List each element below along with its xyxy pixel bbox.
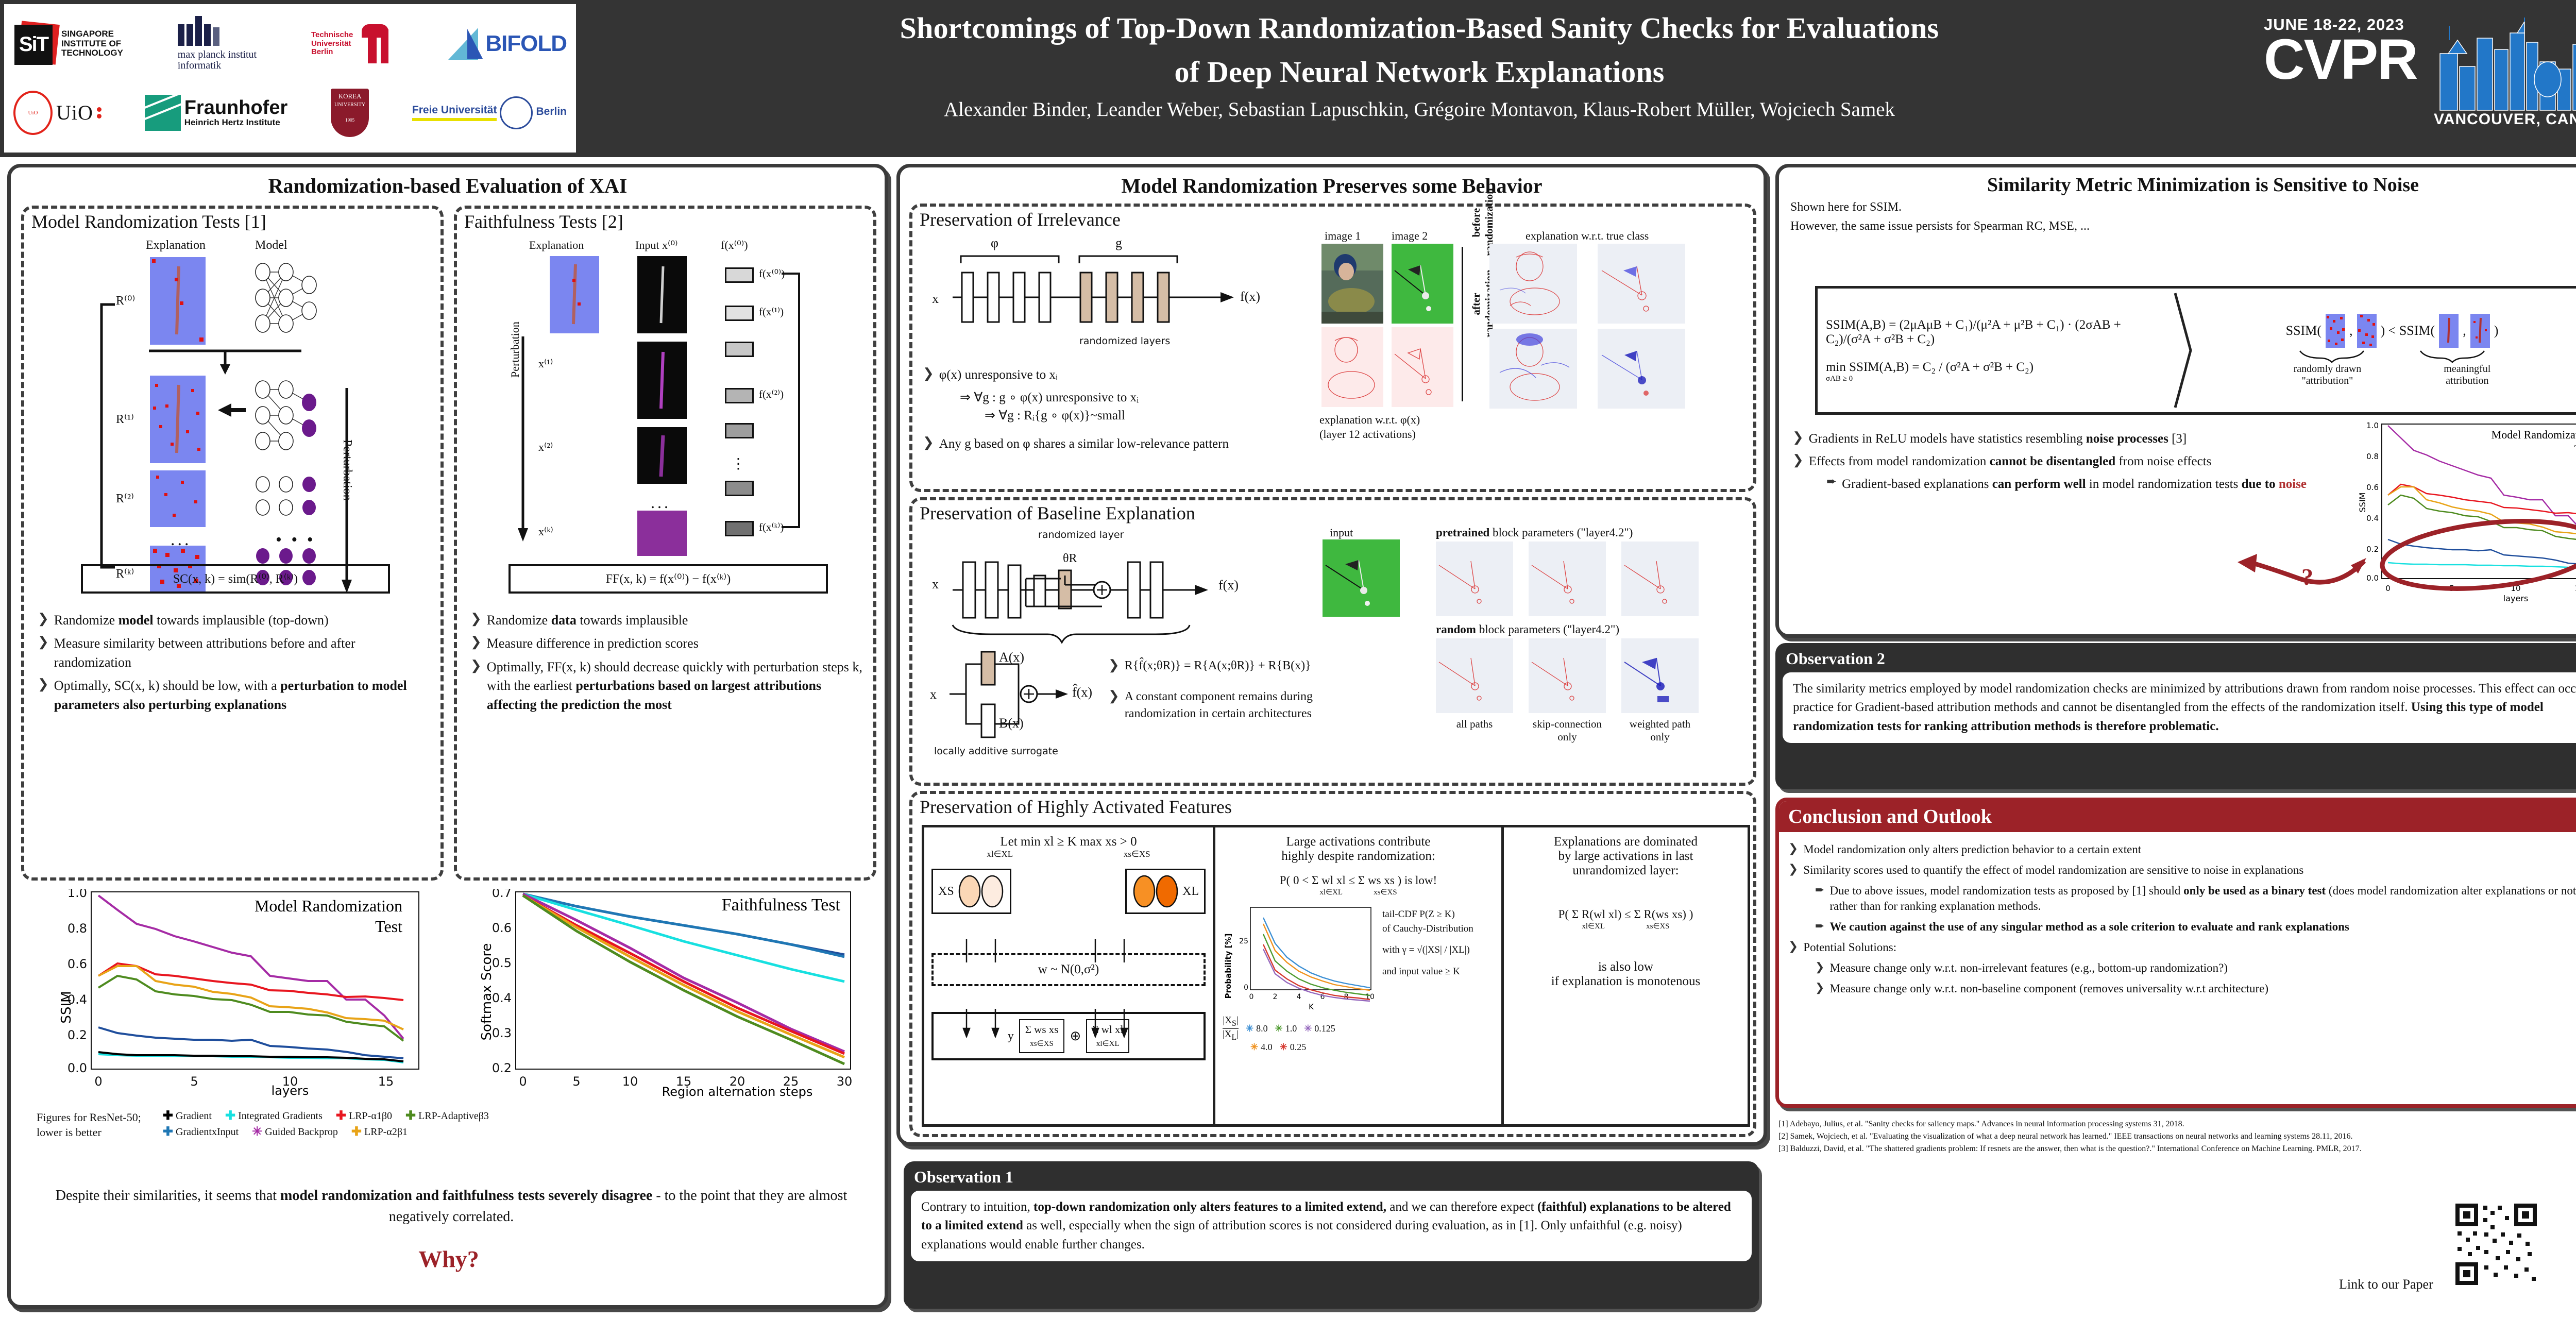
legend-lrp-a2b1: ✚LRP-α2β1: [351, 1126, 408, 1138]
svg-text:Model Randomization: Model Randomization: [2492, 428, 2576, 441]
svg-text:0.6: 0.6: [67, 957, 87, 971]
bullet-arrow-icon: ❯: [1815, 981, 1824, 994]
subpanel-faithfulness-tests: Faithfulness Tests [2] Explanation Input…: [454, 206, 876, 881]
svg-text:layers: layers: [2503, 594, 2528, 603]
svg-text:Probability [%]: Probability [%]: [1224, 934, 1233, 999]
bullet-arrow-right-icon: ➨: [1815, 919, 1824, 932]
ft-bracket: [776, 269, 807, 537]
legend-ratio-1: ✳1.0: [1275, 1023, 1297, 1034]
bullet-arrow-icon: ❯: [1108, 657, 1120, 673]
baseline-image-grid: input pretrained block parameters ("laye…: [1319, 526, 1752, 768]
svg-text:0.4: 0.4: [2366, 514, 2379, 523]
conclusion-heading: Conclusion and Outlook: [1779, 801, 2576, 832]
expl-true-class-label: explanation w.r.t. true class: [1526, 229, 1649, 243]
baseline-brace: [950, 623, 1192, 644]
ha-cdf-legend-2: ✳4.0 ✳0.25: [1250, 1042, 1494, 1053]
similarity-title: Similarity Metric Minimization is Sensit…: [1779, 167, 2576, 199]
legend-marker-icon: ✳: [252, 1128, 262, 1137]
ssim-braces: [2271, 350, 2513, 363]
ft-perturbation-label: Perturbation: [509, 322, 522, 378]
ft-bullet-2: Optimally, FF(x, k) should decrease quic…: [487, 658, 867, 714]
bullet-arrow-icon: ❯: [1108, 688, 1120, 704]
svg-text:5: 5: [572, 1074, 580, 1089]
legend-gradientxinput: ✚GradientxInput: [163, 1126, 239, 1138]
ha-nodes: XS XL: [931, 869, 1206, 914]
logo-fraunhofer: Fraunhofer Heinrich Hertz Institute: [145, 95, 288, 131]
list-item: ➨ Due to above issues, model randomizati…: [1815, 883, 2576, 915]
irrelevance-bullet-2: ⇒ ∀g : Rᵢ{g ∘ φ(x)}~small: [985, 407, 1304, 425]
noise-attr-b: [2357, 314, 2377, 348]
figure-note: Figures for ResNet-50; lower is better: [37, 1110, 141, 1140]
legend-integrated-gradients: ✚Integrated Gradients: [225, 1110, 323, 1122]
observation-2-body: The similarity metrics employed by model…: [1783, 672, 2576, 743]
ssim-formula-box: SSIM(A,B) = (2μAμB + C₁)/(μ²A + μ²B + C₁…: [1815, 286, 2576, 415]
ha-c3-l2: by large activations in last: [1511, 849, 1740, 864]
list-item: ❯ Optimally, FF(x, k) should decrease qu…: [470, 658, 867, 714]
ft-bar-1: [725, 306, 754, 321]
irrelevance-network-diagram: φ g x f(x) ran: [925, 235, 1301, 354]
ssim-equation: SSIM(A,B) = (2μAμB + C₁)/(μ²A + μ²B + C₁…: [1826, 318, 2165, 347]
observation-1-heading: Observation 1: [911, 1166, 1752, 1191]
why-question: Why?: [11, 1245, 887, 1273]
left-legend-block: Figures for ResNet-50; lower is better ✚…: [37, 1110, 866, 1140]
baseline-input-label: input: [1330, 526, 1353, 539]
g-label: g: [1115, 235, 1122, 251]
ft-bar-4: [725, 423, 754, 438]
ssim-min-equation: min SSIM(A,B) = C₂ / (σ²A + σ²B + C₂) σA…: [1826, 360, 2165, 383]
legend-gradient: ✚Gradient: [163, 1110, 212, 1122]
bifold-label: BIFOLD: [485, 31, 567, 57]
ft-chart-svg: 0.70.60.5 0.40.30.2 051015 202530 Softma…: [464, 889, 866, 1105]
uio-seal-icon: UiO: [13, 91, 53, 135]
ha-col-3: Explanations are dominated by large acti…: [1501, 827, 1748, 1124]
phi-label: φ: [991, 235, 998, 251]
ft-input-1: [637, 342, 687, 419]
irrelevance-brackets: [956, 253, 1285, 265]
ha-c2-prob: P( 0 < Σ wl xl ≤ Σ ws xs ) is low!: [1223, 874, 1494, 887]
bullet-arrow-icon: ❯: [1788, 842, 1798, 855]
subpanel-preservation-baseline: Preservation of Baseline Explanation ran…: [909, 497, 1756, 786]
bullet-arrow-icon: ❯: [470, 611, 482, 627]
baseline-bullet: A constant component remains during rand…: [1125, 688, 1314, 723]
svg-text:4: 4: [1297, 993, 1301, 1001]
legend-marker-icon: ✚: [163, 1112, 173, 1121]
mrt-bullet-0: Randomize model towards implausible (top…: [54, 611, 329, 630]
bullet-arrow-icon: ❯: [923, 435, 934, 450]
ha-cdf-block: Probability [%] 250 024 6810 K: [1223, 904, 1494, 1012]
ha-let: Let min xl ≥ K max xs > 0: [931, 835, 1206, 849]
ssim-divider: [2173, 291, 2194, 410]
svg-text:5: 5: [190, 1074, 198, 1089]
fhat-label: f̂(x): [1072, 685, 1092, 700]
poster-title-line2: of Deep Neural Network Explanations: [582, 47, 2257, 91]
reference-3: [3] Balduzzi, David, et al. "The shatter…: [1778, 1143, 2422, 1155]
similarity-line1: Shown here for SSIM.: [1779, 199, 2576, 215]
mrt-label-r0: R⁽⁰⁾: [116, 293, 135, 308]
qr-caption: Link to our Paper: [2339, 1277, 2433, 1292]
ssim-comparison: SSIM( , ) < SSIM( ,: [2194, 314, 2576, 387]
legend-marker-icon: ✳: [1304, 1023, 1312, 1034]
ha-col-2: Large activations contribute highly desp…: [1213, 827, 1501, 1124]
legend-marker-icon: ✚: [351, 1128, 362, 1137]
references-block: [1] Adebayo, Julius, et al. "Sanity chec…: [1778, 1118, 2422, 1155]
right-bullet-1: Effects from model randomization cannot …: [1809, 452, 2212, 470]
subpanel-highly-activated: Preservation of Highly Activated Feature…: [909, 791, 1756, 1137]
svg-text:0: 0: [2385, 584, 2391, 593]
ft-label-x1: x⁽¹⁾: [538, 357, 553, 370]
svg-text:0.6: 0.6: [492, 921, 512, 935]
mpi-icon: [178, 16, 219, 46]
bullet-arrow-icon: ❯: [1788, 863, 1798, 876]
fu-berlin-suffix: Berlin: [536, 106, 567, 120]
list-item: ❯ Any g based on φ shares a similar low-…: [923, 435, 1304, 453]
conclusion-item-2: Due to above issues, model randomization…: [1829, 883, 2576, 915]
mrt-network-0: [250, 259, 327, 342]
tu-berlin-icon: [357, 24, 394, 63]
ha-c2-l2: highly despite randomization:: [1223, 849, 1494, 864]
baseline-network-diagram: randomized layer x θR f: [925, 529, 1296, 632]
svg-text:0.2: 0.2: [67, 1028, 87, 1042]
logo-mpi: max planck institutinformatik: [178, 16, 257, 71]
ft-bar-0: [725, 267, 754, 283]
ft-input-2: [637, 427, 687, 484]
chart-model-randomization-test-small: 1.00.80.6 0.40.20.0 051015 SSIM layers M…: [2351, 420, 2576, 611]
svg-text:SSIM: SSIM: [59, 991, 74, 1023]
svg-text:0.5: 0.5: [492, 956, 512, 970]
poster-title-line1: Shortcomings of Top-Down Randomization-B…: [582, 3, 2257, 47]
meaningful-attr-a: [2439, 314, 2459, 348]
subpanel-preservation-irrelevance: Preservation of Irrelevance φ g x: [909, 204, 1756, 492]
legend-ratio-0125: ✳0.125: [1304, 1023, 1335, 1034]
svg-text:0: 0: [1249, 993, 1254, 1001]
bullet-arrow-icon: ❯: [1792, 430, 1804, 445]
list-item: ❯ Measure change only w.r.t. non-irrelev…: [1815, 960, 2576, 976]
surrogate-caption: locally additive surrogate: [934, 746, 1058, 757]
irrelevance-output-fx: f(x): [1240, 289, 1260, 305]
mrt-col-model: Model: [255, 239, 287, 252]
legend-ratio-4: ✳4.0: [1250, 1042, 1273, 1053]
observation-2: Observation 2 The similarity metrics emp…: [1775, 643, 2576, 789]
random-caption: random block parameters ("layer4.2"): [1436, 623, 1619, 636]
list-item: ❯ Measure change only w.r.t. non-baselin…: [1815, 981, 2576, 997]
svg-text:25: 25: [1239, 937, 1248, 945]
panel-randomization-evaluation: Randomization-based Evaluation of XAI Mo…: [7, 164, 888, 1309]
mrt-sc-bracket: [94, 299, 115, 578]
legend-ratio-025: ✳0.25: [1280, 1042, 1307, 1053]
fraunhofer-label: Fraunhofer: [184, 98, 288, 117]
svg-text:0.8: 0.8: [2366, 452, 2379, 461]
bx-label: B(x): [999, 716, 1024, 731]
observation-1-body: Contrary to intuition, top-down randomiz…: [911, 1191, 1752, 1261]
fraunhofer-icon: [145, 95, 181, 131]
panel-model-randomization-preserves: Model Randomization Preserves some Behav…: [896, 164, 1767, 1146]
svg-text:15: 15: [378, 1074, 394, 1089]
right-bullet-2: Gradient-based explanations can perform …: [1842, 475, 2307, 493]
list-item: ❯ Optimally, SC(x, k) should be low, wit…: [38, 677, 432, 714]
ft-ellipsis: ...: [651, 493, 671, 512]
col-all-paths: all paths: [1436, 718, 1513, 743]
ft-col-input: Input x⁽⁰⁾: [635, 239, 678, 252]
logo-tu-berlin: TechnischeUniversitätBerlin: [311, 24, 394, 63]
ft-ellipsis-2: ⋮: [731, 455, 748, 472]
svg-text:10: 10: [622, 1074, 638, 1089]
mrt-bullets: ❯ Randomize model towards implausible (t…: [38, 606, 432, 719]
logo-sit: SiT SINGAPOREINSTITUTE OFTECHNOLOGY: [13, 22, 123, 66]
list-item: ❯ φ(x) unresponsive to xᵢ: [923, 366, 1304, 384]
list-item: ❯ Measure similarity between attribution…: [38, 634, 432, 672]
svg-text:0: 0: [94, 1074, 102, 1089]
institution-logos: SiT SINGAPOREINSTITUTE OFTECHNOLOGY max …: [4, 4, 576, 153]
list-item: ❯ Potential Solutions:: [1788, 940, 2576, 956]
ft-diagram: Explanation Input x⁽⁰⁾ f(x⁽⁰⁾) x⁽¹⁾: [467, 239, 869, 563]
ha-c3-prob: P( Σ R(wl xl) ≤ Σ R(ws xs) ): [1511, 908, 1740, 921]
svg-text:0.6: 0.6: [2366, 483, 2379, 492]
poster-header: SiT SINGAPOREINSTITUTE OFTECHNOLOGY max …: [0, 0, 2576, 157]
logo-uio: UiO UiO: [13, 91, 101, 135]
svg-text:Model Randomization: Model Randomization: [255, 897, 402, 915]
cvpr-city: VANCOUVER, CANADA: [2434, 111, 2576, 128]
noise-attr-a: [2326, 314, 2345, 348]
img1-label: image 1: [1325, 229, 1361, 243]
ha-c2-l1: Large activations contribute: [1223, 835, 1494, 849]
svg-text:1.0: 1.0: [67, 889, 87, 900]
irrelevance-input-x: x: [932, 291, 939, 307]
mrt-label-r1: R⁽¹⁾: [116, 412, 134, 427]
bullet-arrow-icon: ❯: [1815, 960, 1824, 973]
middle-panel-title: Model Randomization Preserves some Behav…: [900, 167, 1764, 201]
baseline-title: Preservation of Baseline Explanation: [912, 500, 1753, 525]
svg-text:2: 2: [1273, 993, 1278, 1001]
mrt-label-r2: R⁽²⁾: [116, 491, 134, 506]
svg-text:0: 0: [519, 1074, 527, 1089]
sit-label: SINGAPOREINSTITUTE OFTECHNOLOGY: [61, 29, 123, 58]
figure-note-line1: Figures for ResNet-50;: [37, 1110, 141, 1125]
svg-text:0.3: 0.3: [492, 1026, 512, 1040]
mrt-col-explanation: Explanation: [146, 239, 206, 252]
ft-bar-3: [725, 388, 754, 403]
noise-pointer-arrow: [2217, 529, 2371, 596]
panel-similarity-metric: Similarity Metric Minimization is Sensit…: [1775, 164, 2576, 638]
list-item: ❯ Model randomization only alters predic…: [1788, 842, 2576, 858]
randomized-layer-label: randomized layer: [1038, 529, 1124, 540]
poster-root: SiT SINGAPOREINSTITUTE OFTECHNOLOGY max …: [0, 0, 2576, 1319]
ha-col-1: Let min xl ≥ K max xs > 0 xl∈XL xs∈XS XS: [924, 827, 1213, 1124]
ha-xs-group: XS: [931, 869, 1011, 914]
uio-dots-icon: [97, 107, 101, 119]
poster-authors: Alexander Binder, Leander Weber, Sebasti…: [582, 98, 2257, 121]
ft-formula: FF(x, k) = f(x⁽⁰⁾) − f(x⁽ᵏ⁾): [509, 564, 828, 594]
ft-bar-5: [725, 481, 754, 496]
svg-text:0.7: 0.7: [492, 889, 512, 900]
ha-xl-group: XL: [1125, 869, 1206, 914]
legend-marker-icon: ✚: [163, 1128, 173, 1137]
mrt-title: Model Randomization Tests [1]: [24, 209, 440, 233]
pretrained-heatmaps: [1436, 542, 1745, 618]
subpanel-model-randomization-tests: Model Randomization Tests [1] Explanatio…: [21, 206, 444, 881]
ha-xl-ellipses: [1132, 874, 1179, 908]
irrelevance-image-grid: image 1 image 2 explanation w.r.t. true …: [1319, 229, 1752, 471]
logo-bifold: BIFOLD: [448, 28, 567, 60]
list-item: ❯ Gradients in ReLU models have statisti…: [1792, 430, 2338, 448]
ha-c3-l3: unrandomized layer:: [1511, 864, 1740, 878]
list-item: ❯ Effects from model randomization canno…: [1792, 452, 2338, 470]
irrelevance-randomized-layers-label: randomized layers: [1079, 335, 1170, 347]
mrt-expl-1: [150, 376, 206, 463]
baseline-input-x: x: [932, 577, 939, 592]
left-panel-title: Randomization-based Evaluation of XAI: [11, 167, 885, 201]
ha-lines-down-2: [948, 1009, 1185, 1038]
question-mark: ?: [2301, 563, 2313, 590]
list-item: ➨ We caution against the use of any sing…: [1815, 919, 2576, 935]
list-item: ❯ R{f̂(x;θR)} = R{A(x;θR)} + R{B(x)}: [1108, 657, 1314, 675]
ft-col-explanation: Explanation: [529, 239, 584, 252]
svg-text:0.2: 0.2: [492, 1061, 512, 1075]
irrelevance-layers: [947, 265, 1287, 332]
svg-text:6: 6: [1320, 993, 1325, 1001]
irrelevance-caption: explanation w.r.t. φ(x) (layer 12 activa…: [1319, 413, 1420, 441]
cvpr-logo: JUNE 18-22, 2023 CVPR VANCOUVER, CANADA: [2264, 15, 2576, 139]
mrt-expl-2: [150, 470, 206, 527]
pretrained-caption: pretrained block parameters ("layer4.2"): [1436, 526, 1633, 539]
legend-marker-icon: ✚: [405, 1112, 416, 1121]
ft-bar-6: [725, 521, 754, 536]
title-block: Shortcomings of Top-Down Randomization-B…: [582, 3, 2257, 121]
qr-code-icon[interactable]: [2452, 1200, 2540, 1288]
logo-fu-berlin: Freie Universität Berlin: [412, 96, 567, 129]
random-heatmaps: [1436, 638, 1745, 715]
chart-tail-cdf-cauchy: Probability [%] 250 024 6810 K: [1223, 904, 1377, 1012]
ssim-compare-row: SSIM( , ) < SSIM( ,: [2286, 314, 2499, 348]
legend-lrp-a1b0: ✚LRP-α1β0: [336, 1110, 392, 1122]
list-item: ❯ A constant component remains during ra…: [1108, 688, 1314, 723]
ha-cdf-notes: tail-CDF P(Z ≥ K) of Cauchy-Distribution…: [1382, 904, 1473, 1012]
chart-faithfulness-test: 0.70.60.5 0.40.30.2 051015 202530 Softma…: [464, 889, 866, 1105]
ft-col-fx: f(x⁽⁰⁾): [721, 239, 748, 252]
list-item: ❯ Randomize model towards implausible (t…: [38, 611, 432, 630]
list-item: ❯ Measure difference in prediction score…: [470, 634, 867, 653]
conclusion-body: ❯ Model randomization only alters predic…: [1779, 832, 2576, 1008]
mrt-network-2: [250, 471, 337, 528]
baseline-eq: R{f̂(x;θR)} = R{A(x;θR)} + R{B(x)}: [1125, 657, 1311, 675]
irrelevance-title: Preservation of Irrelevance: [912, 207, 1753, 231]
mrt-expl-0: [150, 257, 206, 345]
fu-berlin-seal-icon: [500, 96, 533, 129]
bullet-arrow-icon: ❯: [38, 677, 49, 692]
ft-bullets: ❯ Randomize data towards implausible ❯ M…: [470, 606, 867, 719]
bullet-arrow-icon: ❯: [1792, 452, 1804, 468]
svg-text:10: 10: [1365, 993, 1375, 1001]
ft-input-k: [637, 511, 687, 556]
bullet-arrow-right-icon: ➨: [1826, 475, 1837, 489]
legend-marker-icon: ✚: [225, 1112, 235, 1121]
svg-text:Faithfulness Test: Faithfulness Test: [722, 895, 841, 915]
reference-1: [1] Adebayo, Julius, et al. "Sanity chec…: [1778, 1118, 2422, 1130]
ax-label: A(x): [999, 650, 1024, 665]
legend-marker-icon: ✚: [336, 1112, 346, 1121]
mrt-arrow-left-1: [216, 402, 247, 418]
col-skip-connection: skip-connectiononly: [1529, 718, 1606, 743]
mrt-network-1: [250, 377, 337, 459]
ha-cdf-legend: with γ = √(|XS| / |XL|) |XS||XL| ✳8.0 ✳1…: [1223, 1016, 1494, 1042]
mrt-perturbation-label: Perturbation: [340, 439, 354, 501]
bullet-arrow-icon: ❯: [38, 611, 49, 627]
bullet-arrow-icon: ❯: [470, 634, 482, 650]
legend-marker-icon: ✳: [1280, 1042, 1287, 1053]
observation-2-heading: Observation 2: [1783, 648, 2576, 672]
ha-subs: xl∈XL xs∈XS: [931, 849, 1206, 859]
ha-c3-l1: Explanations are dominated: [1511, 835, 1740, 849]
legend-lrp-adaptive-b3: ✚LRP-Adaptiveβ3: [405, 1110, 489, 1122]
uio-label: UiO: [56, 100, 93, 125]
ft-label-x2: x⁽²⁾: [538, 441, 553, 454]
chart-model-randomization-test: 1.00.80.6 0.40.20.0 051015 SSIM layers M…: [42, 889, 433, 1105]
bullet-arrow-icon: ❯: [470, 658, 482, 673]
tu-berlin-label: TechnischeUniversitätBerlin: [311, 31, 353, 57]
mrt-arrow-down-1: [147, 348, 312, 376]
svg-text:layers: layers: [272, 1084, 309, 1098]
list-item: ❯ Similarity scores used to quantify the…: [1788, 863, 2576, 878]
fraunhofer-sub-label: Heinrich Hertz Institute: [184, 117, 288, 128]
theta-r-label: θR: [1063, 552, 1077, 566]
baseline-input-photo: [1319, 539, 1410, 622]
left-conclusion-text: Despite their similarities, it seems tha…: [42, 1186, 861, 1227]
ha-c2-subs: xl∈XL xs∈XS: [1223, 887, 1494, 897]
mrt-small-svg: 1.00.80.6 0.40.20.0 051015 SSIM layers M…: [2351, 420, 2576, 611]
svg-text:0.8: 0.8: [67, 921, 87, 936]
vancouver-skyline-icon: [2434, 18, 2576, 121]
ha-c3-tail1: is also low: [1511, 960, 1740, 974]
mrt-diagram: Explanation Model R⁽⁰⁾: [39, 239, 430, 563]
svg-text:Softmax Score: Softmax Score: [479, 943, 495, 1040]
svg-text:0: 0: [1244, 984, 1248, 992]
figure-note-line2: lower is better: [37, 1125, 141, 1140]
svg-text:30: 30: [837, 1074, 853, 1089]
irrelevance-heatmaps: [1489, 244, 1716, 409]
baseline-bullets: ❯ R{f̂(x;θR)} = R{A(x;θR)} + R{B(x)} ❯ A…: [1108, 653, 1314, 728]
highly-activated-columns: Let min xl ≥ K max xs > 0 xl∈XL xs∈XS XS: [922, 825, 1750, 1127]
bullet-arrow-icon: ❯: [1788, 940, 1798, 953]
baseline-col-labels: all paths skip-connectiononly weighted p…: [1436, 718, 1745, 743]
mrt-bullet-2: Optimally, SC(x, k) should be low, with …: [54, 677, 432, 714]
mrt-bullet-1: Measure similarity between attributions …: [54, 634, 432, 672]
legend-ratio-label: |XS||XL|: [1223, 1016, 1239, 1042]
svg-text:SSIM: SSIM: [2358, 493, 2367, 513]
qr-code[interactable]: [2452, 1200, 2540, 1291]
irrelevance-bullet-3: Any g based on φ shares a similar low-re…: [939, 435, 1229, 453]
bullet-arrow-icon: ❯: [38, 634, 49, 650]
ha-c3-tail2: if explanation is monotenous: [1511, 974, 1740, 989]
list-item: ➨ Gradient-based explanations can perfor…: [1826, 475, 2338, 493]
sit-icon: SiT: [13, 22, 58, 66]
ha-c3-subs: xl∈XL xs∈XS: [1511, 921, 1740, 931]
logo-korea-university: KOREAUNIVERSITY1905: [331, 89, 369, 137]
irrelevance-photos: [1319, 244, 1459, 409]
highly-activated-title: Preservation of Highly Activated Feature…: [912, 794, 1753, 819]
bullet-arrow-icon: ❯: [923, 366, 934, 381]
ha-lines-down-1: [948, 939, 1185, 965]
legend-marker-icon: ✳: [1275, 1023, 1283, 1034]
ha-xs-ellipses: [957, 874, 1005, 908]
meaningful-attr-b: [2470, 314, 2490, 348]
right-bullets: ❯ Gradients in ReLU models have statisti…: [1792, 425, 2338, 498]
legend-marker-icon: ✳: [1246, 1023, 1253, 1034]
list-item: ❯ Randomize data towards implausible: [470, 611, 867, 630]
svg-text:0.0: 0.0: [67, 1061, 87, 1075]
irrelevance-bullet-1: ⇒ ∀g : g ∘ φ(x) unresponsive to xᵢ: [960, 388, 1304, 407]
legend-marker-icon: ✳: [1250, 1042, 1258, 1053]
surrogate-svg: [946, 649, 1132, 752]
ft-expl-0: [550, 256, 599, 333]
